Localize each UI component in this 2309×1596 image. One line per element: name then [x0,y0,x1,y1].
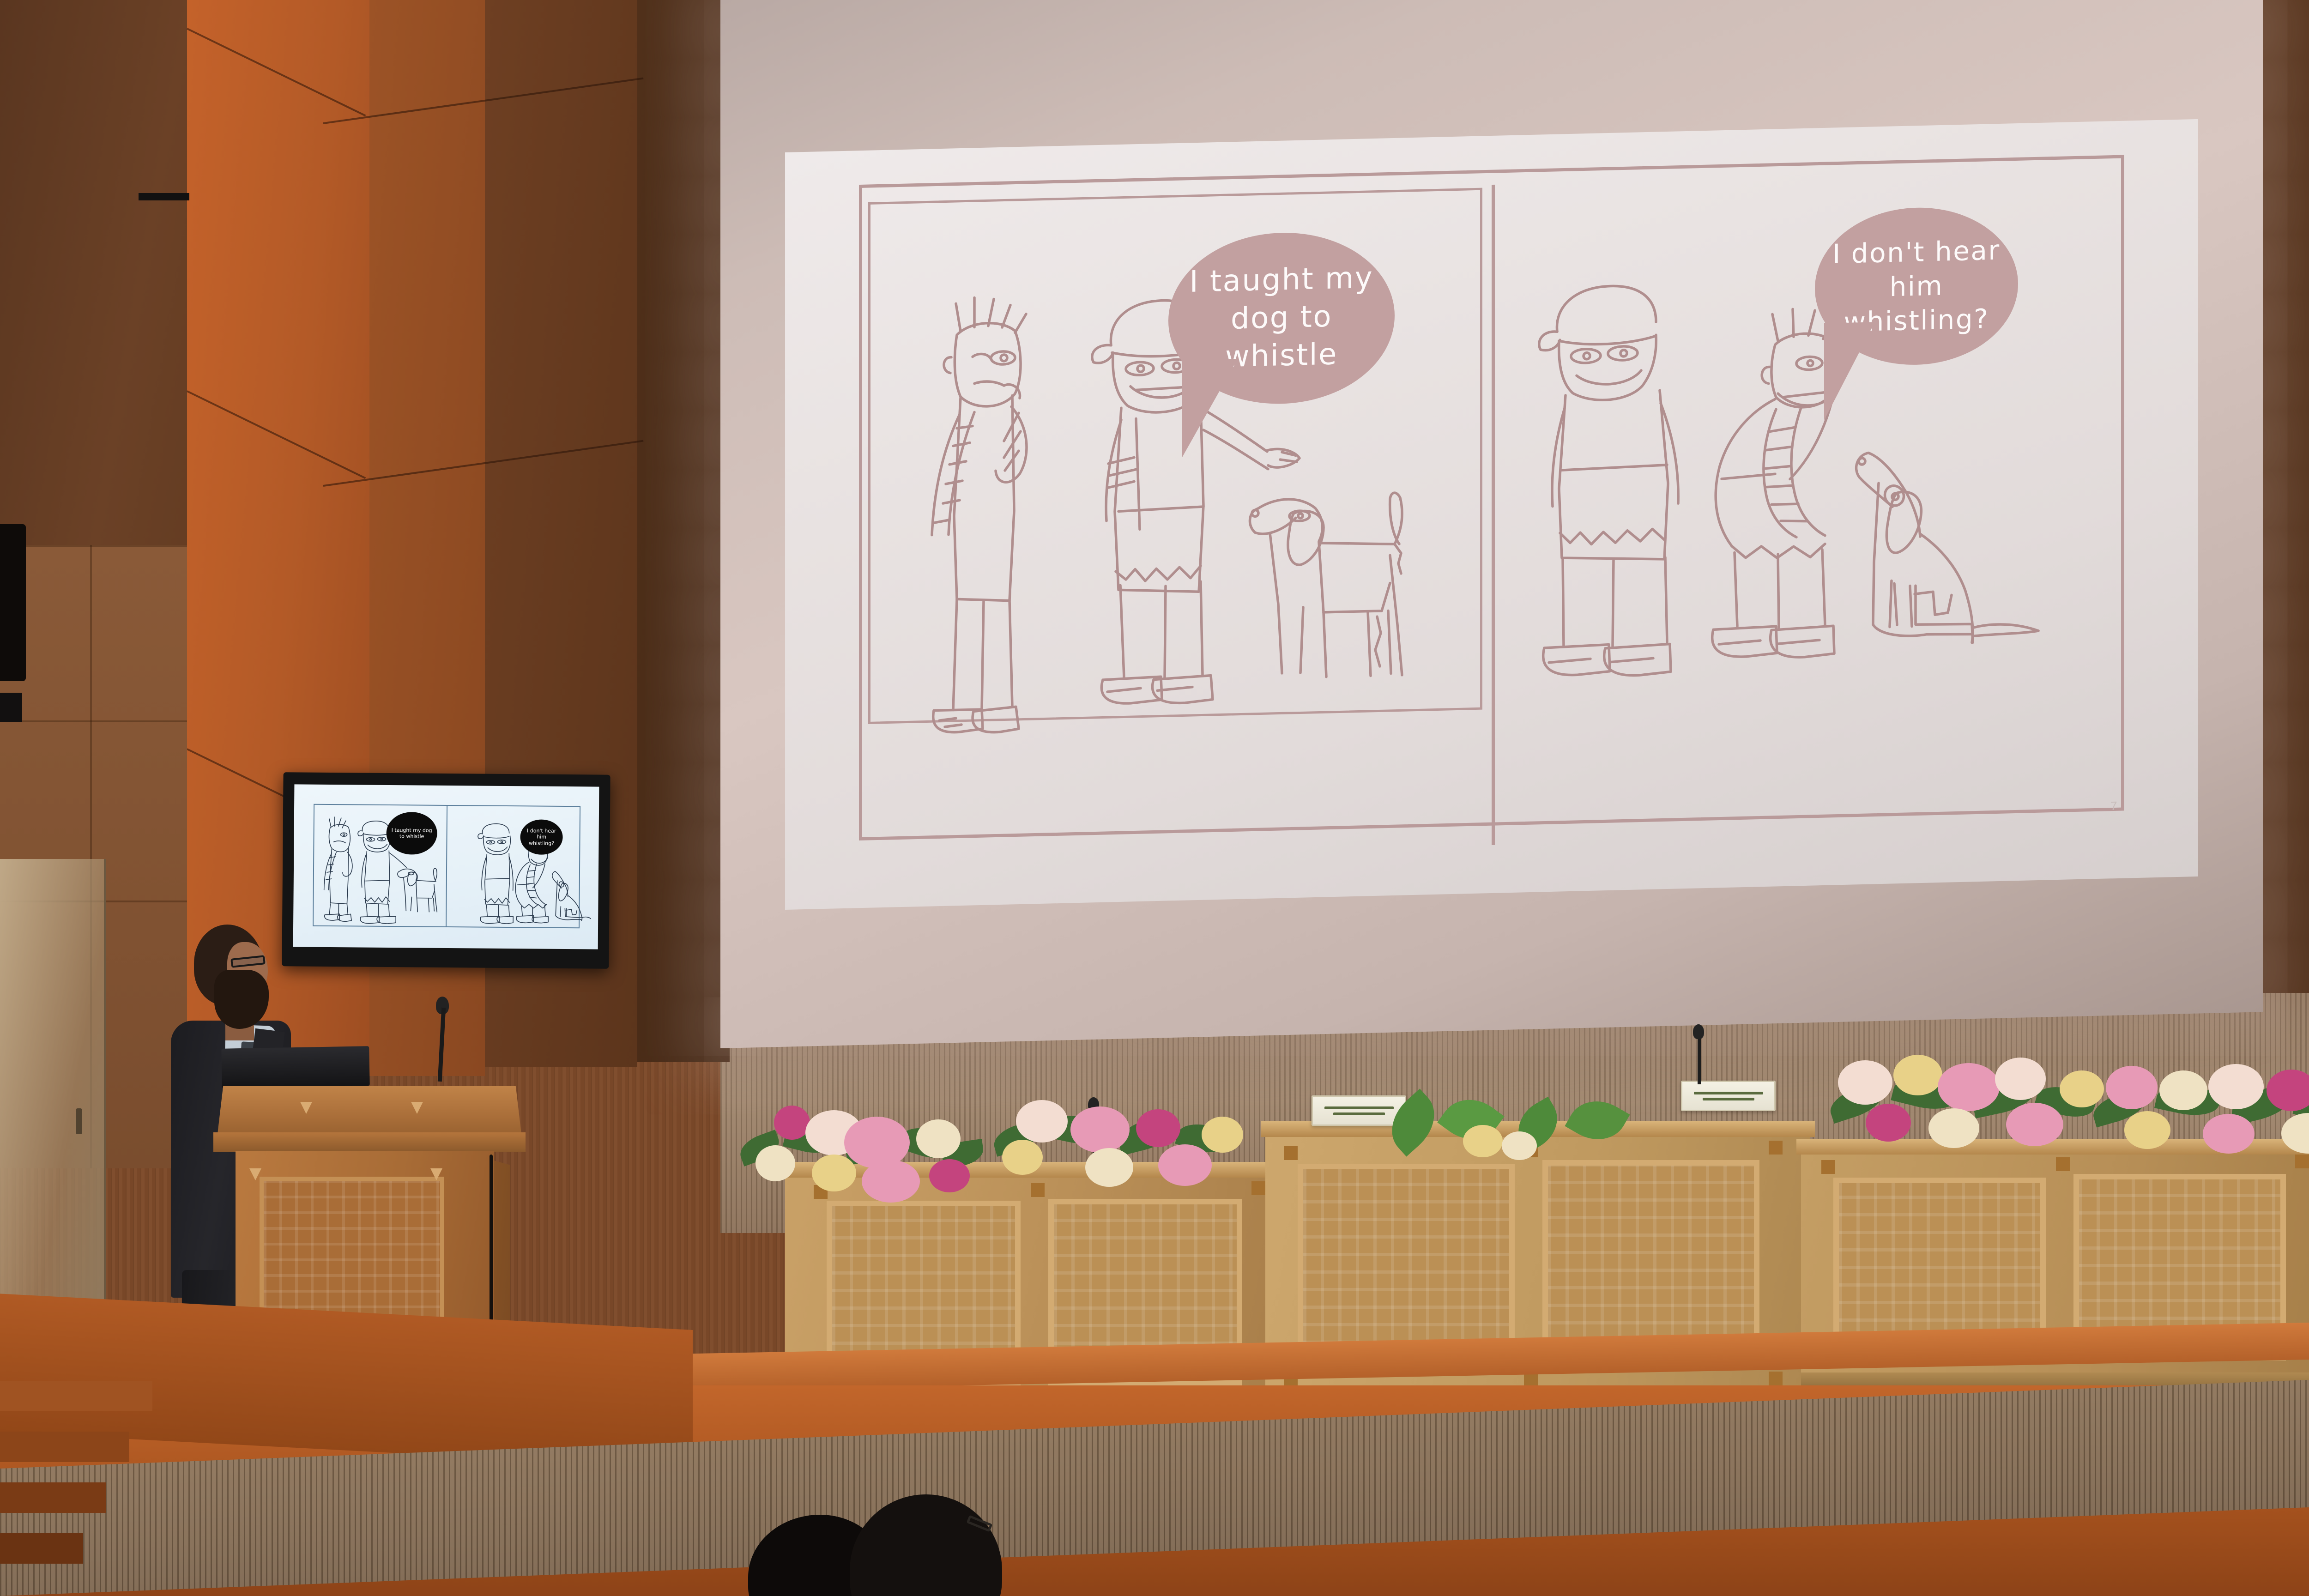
flower-pale-lily [1016,1100,1068,1143]
stone-joint [0,720,187,722]
flower-pale-lily [1838,1060,1892,1105]
flower-pink-lily [862,1160,920,1203]
flower-cream [1085,1148,1133,1187]
flower-yellow-rose [2124,1111,2170,1149]
flower-cream [2159,1070,2207,1110]
panel-table-corner-inlay [1251,1181,1265,1195]
flower-pale-lily [2208,1064,2264,1109]
table-microphone-head [1693,1024,1704,1039]
wall-speaker-bracket [0,693,22,722]
flower-pink-lily [2203,1114,2255,1154]
flower-yellow-rose [1463,1125,1503,1157]
flower-pink-lily [1938,1063,2000,1111]
speech-bubble-right-tail [1824,322,1875,420]
flower-pink-lily [2106,1066,2158,1109]
panel-table-corner-inlay [1284,1146,1298,1160]
door-handle[interactable] [76,1108,82,1134]
flower-cream [2281,1113,2309,1154]
stair-step [0,1381,152,1411]
wall-column-dark-far-right [637,0,730,1062]
flower-magenta [774,1106,810,1140]
flower-pink-lily [2006,1103,2063,1146]
panel-table-corner-inlay [1769,1141,1783,1155]
flower-cream [1502,1131,1537,1160]
flower-yellow-rose [1893,1055,1942,1095]
table-microphone-stem [1698,1036,1701,1084]
panel-table-corner-inlay [1769,1372,1783,1385]
podium-edge [213,1132,526,1152]
flower-arrangement-1 [730,1090,988,1196]
flower-magenta [929,1159,970,1192]
wall-speaker [0,524,26,681]
monitor-speech-bubble-right: I don't hear him whistling? [520,819,563,855]
nameplate-2 [1681,1081,1776,1111]
monitor-speech-bubble-left: I taught my dog to whistle [386,812,437,855]
flower-cream [1928,1108,1979,1148]
stair-step [0,1482,106,1513]
confidence-monitor-stand [139,193,189,200]
flower-arrangement-4 [1819,1034,2106,1150]
panel-table-corner-inlay [2295,1155,2309,1168]
podium-top-surface [217,1086,522,1138]
flower-arrangement-5 [2087,1044,2309,1155]
conference-hall-scene: I taught my dog to whistle I don't hear … [0,0,2309,1596]
stair-step [0,1432,129,1462]
flower-arrangement-3 [1376,1067,1635,1164]
monitor-toon-sitting-dog [549,870,591,921]
speech-bubble-left-tail [1182,359,1238,457]
flower-yellow-rose [812,1155,856,1191]
presenter-beard [214,970,269,1029]
panel-table-corner-inlay [1821,1160,1835,1174]
flower-pink-lily [844,1117,910,1168]
flower-cream [756,1145,795,1181]
stage-stairs [0,1367,152,1596]
stone-joint [0,545,187,547]
nameplate-text-line-2 [1703,1098,1754,1100]
nameplate-text-line-1 [1694,1092,1763,1094]
foliage [1565,1089,1630,1152]
panel-table-corner-inlay [2056,1157,2070,1171]
comic-panel-divider [1492,185,1495,845]
toon-standing-dog [1242,471,1464,693]
flower-arrangement-2 [988,1076,1247,1187]
flower-magenta [1866,1104,1911,1142]
toon-sitting-dog [1843,438,2055,674]
flower-pink-lily [1158,1144,1212,1186]
panel-table-inlay-panel [1298,1164,1515,1367]
monitor-toon-standing-dog [396,863,442,914]
slide-page-number: 7 [2110,799,2117,813]
flower-cream [916,1119,961,1158]
flower-magenta [1136,1109,1180,1147]
flower-yellow-rose [1202,1117,1243,1153]
flower-pink-lily [1070,1106,1130,1153]
flower-yellow-rose [1002,1140,1043,1175]
flower-pale-lily [1995,1058,2046,1100]
monitor-toon-spiky-boy [322,815,355,922]
stair-step [0,1533,83,1564]
podium-laptop[interactable] [221,1046,369,1088]
